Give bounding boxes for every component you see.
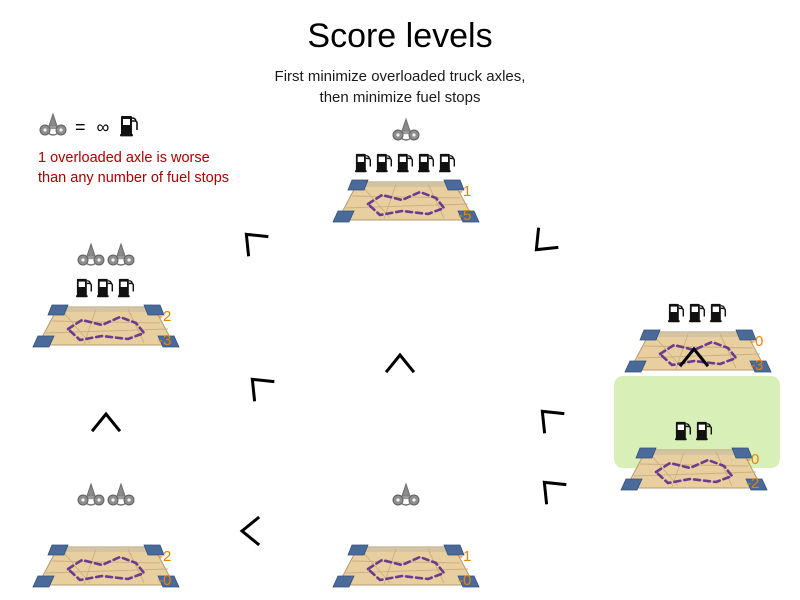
- overloaded-axle-icon: [38, 112, 68, 143]
- fuel-pump-icon: [668, 301, 686, 328]
- fuel-pump-icon-row: [332, 513, 480, 543]
- overloaded-axle-icon: [391, 117, 421, 148]
- score-display: -0-2: [746, 448, 788, 496]
- node-bottom-left[interactable]: -2-0: [32, 483, 180, 591]
- axle-icon-row: [32, 243, 180, 273]
- fuel-pump-icon: [675, 419, 693, 446]
- page-title: Score levels: [0, 16, 800, 56]
- subtitle-line-2: then minimize fuel stops: [0, 87, 800, 108]
- score-display: -1-0: [458, 545, 500, 593]
- node-left-upper[interactable]: -2-3: [32, 243, 180, 351]
- fuel-pump-icon: [120, 113, 140, 142]
- fuel-pump-icon-row: [32, 513, 180, 543]
- infinity-symbol: ∞: [93, 118, 114, 136]
- fuel-pump-icon: [696, 419, 714, 446]
- soft-score: -3: [158, 329, 200, 353]
- overloaded-axle-icon: [76, 482, 106, 513]
- axle-icon-row: [620, 386, 768, 416]
- op-left-lower: [84, 400, 128, 444]
- soft-score: -5: [458, 204, 500, 228]
- fuel-pump-icon-row: [32, 273, 180, 303]
- overloaded-axle-icon: [76, 242, 106, 273]
- axle-icon-row: [332, 483, 480, 513]
- op-bottom: [228, 509, 272, 553]
- hard-score: -0: [746, 448, 788, 472]
- hard-score: -2: [158, 545, 200, 569]
- node-bottom-center[interactable]: -1-0: [332, 483, 480, 591]
- hard-score: -0: [750, 330, 792, 354]
- legend-note: 1 overloaded axle is worse than any numb…: [38, 148, 308, 188]
- soft-score: -0: [458, 569, 500, 593]
- soft-score: -2: [746, 472, 788, 496]
- fuel-pump-icon: [397, 151, 415, 178]
- fuel-pump-icon: [97, 276, 115, 303]
- axle-icon-row: [624, 268, 772, 298]
- overloaded-axle-icon: [106, 482, 136, 513]
- op-mid-left: [236, 363, 280, 407]
- diagram-canvas: Score levels First minimize overloaded t…: [0, 0, 800, 600]
- legend-note-line-2: than any number of fuel stops: [38, 168, 308, 188]
- overloaded-axle-icon: [106, 242, 136, 273]
- fuel-pump-icon: [418, 151, 436, 178]
- route-map: -2-0: [32, 543, 180, 591]
- fuel-pump-icon-row: [620, 416, 768, 446]
- score-display: -1-5: [458, 180, 500, 228]
- hard-score: -1: [458, 545, 500, 569]
- fuel-pump-icon: [689, 301, 707, 328]
- soft-score: -0: [158, 569, 200, 593]
- route-map: -1-5: [332, 178, 480, 226]
- op-right-optimal: [672, 335, 716, 379]
- hard-score: -1: [458, 180, 500, 204]
- legend-equation: = ∞: [38, 112, 308, 142]
- route-map: -2-3: [32, 303, 180, 351]
- page-subtitle: First minimize overloaded truck axles, t…: [0, 66, 800, 108]
- axle-icon-row: [332, 118, 480, 148]
- equals-sign: =: [75, 118, 86, 136]
- fuel-pump-icon: [76, 276, 94, 303]
- score-display: -2-0: [158, 545, 200, 593]
- route-map: -0-2: [620, 446, 768, 494]
- score-display: -0-3: [750, 330, 792, 378]
- score-display: -2-3: [158, 305, 200, 353]
- overloaded-axle-icon: [391, 482, 421, 513]
- hard-score: -2: [158, 305, 200, 329]
- subtitle-line-1: First minimize overloaded truck axles,: [0, 66, 800, 87]
- op-center: [378, 341, 422, 385]
- axle-icon-row: [32, 483, 180, 513]
- fuel-pump-icon-row: [332, 148, 480, 178]
- fuel-pump-icon: [710, 301, 728, 328]
- fuel-pump-icon: [355, 151, 373, 178]
- fuel-pump-icon: [118, 276, 136, 303]
- op-upper-left: [230, 218, 274, 262]
- op-right-mid: [526, 395, 570, 439]
- route-map: -1-0: [332, 543, 480, 591]
- legend-note-line-1: 1 overloaded axle is worse: [38, 148, 308, 168]
- soft-score: -3: [750, 354, 792, 378]
- fuel-pump-icon: [376, 151, 394, 178]
- fuel-pump-icon: [439, 151, 457, 178]
- legend: = ∞ 1 overloaded axle is worse than any …: [38, 112, 308, 188]
- node-optimal[interactable]: -0-2: [620, 386, 768, 494]
- op-upper-right: [520, 222, 564, 266]
- fuel-pump-icon-row: [624, 298, 772, 328]
- node-top-center[interactable]: -1-5: [332, 118, 480, 226]
- op-right-lower: [528, 466, 572, 510]
